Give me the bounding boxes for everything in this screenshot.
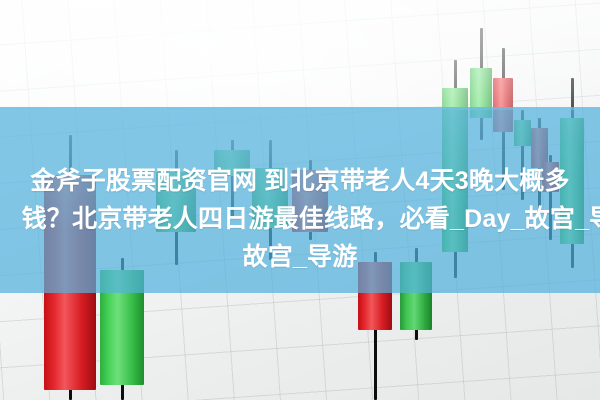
headline-line-3: 故宫_导游 [0, 238, 600, 276]
banner-image: 金斧子股票配资官网 到北京带老人4天3晚大概多 钱？北京带老人四日游最佳线路，必… [0, 0, 600, 400]
headline-line-1: 金斧子股票配资官网 到北京带老人4天3晚大概多 [0, 162, 600, 200]
headline-text: 金斧子股票配资官网 到北京带老人4天3晚大概多 钱？北京带老人四日游最佳线路，必… [0, 162, 600, 276]
headline-line-2: 钱？北京带老人四日游最佳线路，必看_Day_故宫_导 [18, 200, 600, 238]
band-top-edge [0, 107, 600, 110]
